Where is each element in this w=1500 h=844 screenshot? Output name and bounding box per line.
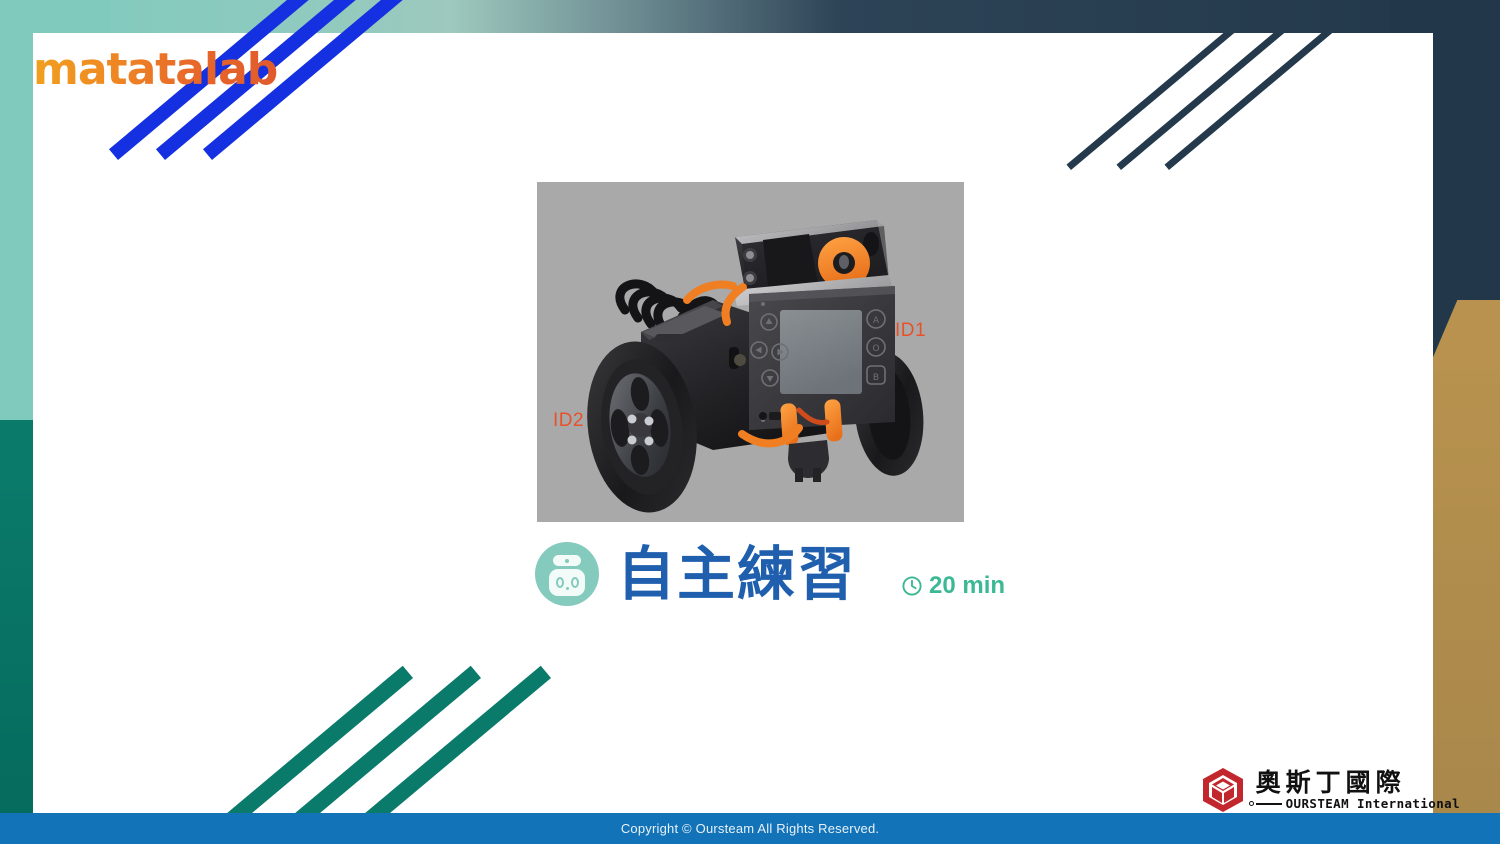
partner-dash-decoration [1256,803,1282,805]
robot-photo: A O B [537,182,964,522]
duration-badge: 20 min [901,572,1005,600]
slide-root: matatalab [0,0,1500,844]
robot-badge-comma [566,587,569,590]
partner-name-cn: 奧斯丁國際 [1256,770,1460,795]
photo-label-id2: ID2 [553,410,584,432]
partner-name-en: OURSTEAM International [1286,798,1460,811]
copyright-text: Copyright © Oursteam All Rights Reserved… [621,821,879,836]
page-title: 自主練習 [617,545,857,603]
robot-illustration: A O B [537,182,964,522]
green-stripe [291,666,481,813]
clock-icon [901,575,923,597]
robot-badge-eye-left [556,577,564,588]
navy-stripe [1067,33,1263,170]
hexagon-cube-icon [1199,766,1247,814]
partner-name-en-row: OURSTEAM International [1256,798,1460,811]
matatalab-logo: matatalab [33,44,277,95]
svg-text:O: O [872,344,879,354]
green-stripe [223,666,413,813]
robot-badge-face [549,569,585,596]
robot-badge-icon [535,542,599,606]
green-stripes-decoration [33,623,573,813]
partner-logo: 奧斯丁國際 OURSTEAM International [1199,766,1460,814]
navy-stripes-decoration [1013,33,1433,213]
duration-text: 20 min [929,572,1005,600]
navy-stripe [1117,33,1313,170]
robot-badge-antenna [553,555,581,566]
photo-label-id1: ID1 [895,320,926,342]
green-stripe [361,666,551,813]
navy-stripe [1165,33,1361,170]
slide-title-row: 自主練習 20 min [535,542,1005,606]
robot-badge-eye-right [571,577,579,588]
svg-text:B: B [873,373,879,383]
partner-logo-text: 奧斯丁國際 OURSTEAM International [1256,770,1460,811]
footer-bar: Copyright © Oursteam All Rights Reserved… [0,813,1500,844]
svg-text:A: A [873,316,880,326]
